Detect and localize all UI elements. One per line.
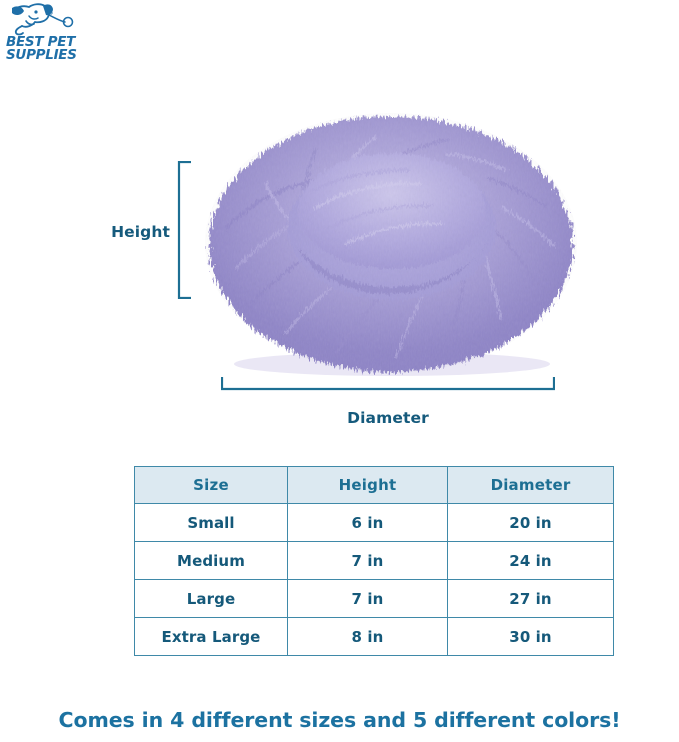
- cell-size: Medium: [135, 542, 288, 580]
- brand-name-line-2: SUPPLIES: [6, 49, 86, 62]
- column-header-size: Size: [135, 467, 288, 504]
- fluffy-donut-pet-bed-illustration: [196, 78, 586, 378]
- column-header-diameter: Diameter: [448, 467, 614, 504]
- cell-diameter: 30 in: [448, 618, 614, 656]
- cell-height: 6 in: [288, 504, 448, 542]
- table-row: Medium 7 in 24 in: [135, 542, 614, 580]
- table-row: Large 7 in 27 in: [135, 580, 614, 618]
- diameter-dimension-bracket: [221, 376, 555, 392]
- cell-size: Large: [135, 580, 288, 618]
- diameter-label: Diameter: [221, 409, 555, 427]
- cell-height: 7 in: [288, 580, 448, 618]
- table-header-row: Size Height Diameter: [135, 467, 614, 504]
- cell-height: 8 in: [288, 618, 448, 656]
- cell-size: Small: [135, 504, 288, 542]
- height-label: Height: [92, 223, 170, 241]
- column-header-height: Height: [288, 467, 448, 504]
- table-row: Small 6 in 20 in: [135, 504, 614, 542]
- cell-diameter: 24 in: [448, 542, 614, 580]
- size-chart-table: Size Height Diameter Small 6 in 20 in Me…: [134, 466, 614, 656]
- cell-size: Extra Large: [135, 618, 288, 656]
- brand-name: BEST PET SUPPLIES: [6, 36, 86, 62]
- product-image: [196, 78, 586, 378]
- cell-height: 7 in: [288, 542, 448, 580]
- footer-headline: Comes in 4 different sizes and 5 differe…: [0, 708, 679, 732]
- brand-logo: BEST PET SUPPLIES: [2, 2, 88, 68]
- cell-diameter: 20 in: [448, 504, 614, 542]
- height-dimension-bracket: [176, 161, 192, 299]
- table-row: Extra Large 8 in 30 in: [135, 618, 614, 656]
- cell-diameter: 27 in: [448, 580, 614, 618]
